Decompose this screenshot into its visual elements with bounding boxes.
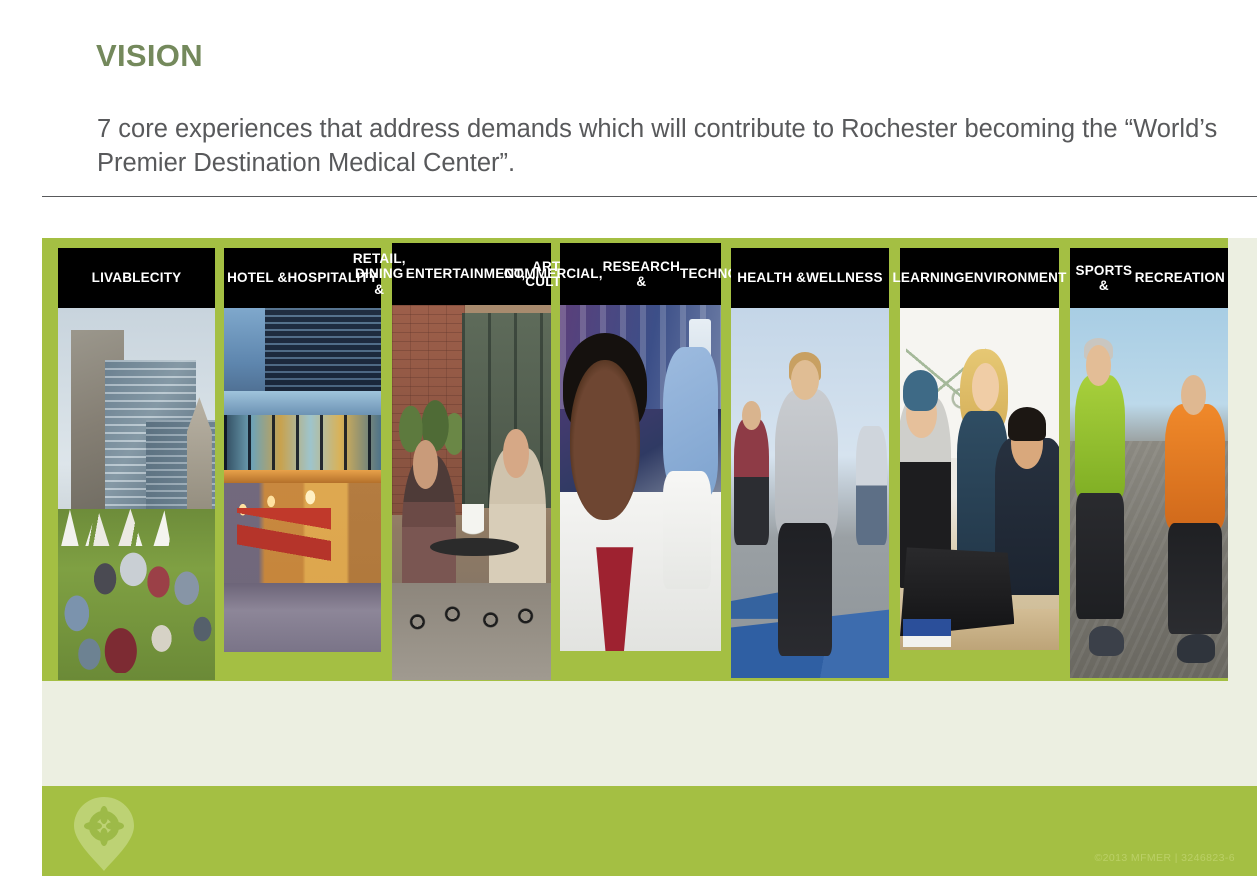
column-photo-learning-environment	[900, 308, 1059, 650]
column-health-wellness[interactable]: HEALTH & WELLNESS	[731, 248, 889, 678]
column-label-line-1: LEARNING	[892, 270, 964, 286]
column-header-livable-city: LIVABLE CITY	[58, 248, 215, 308]
column-label-line-2: CITY	[150, 270, 182, 286]
column-label-line-2: ENVIRONMENT	[965, 270, 1067, 286]
vision-columns-panel: LIVABLE CITY HOTEL & HOSPITALITY	[42, 238, 1257, 786]
column-sports-recreation[interactable]: SPORTS & RECREATION	[1070, 248, 1228, 678]
header-divider-rule	[42, 196, 1257, 197]
column-header-learning-environment: LEARNING ENVIRONMENT	[900, 248, 1059, 308]
column-hotel-hospitality[interactable]: HOTEL & HOSPITALITY	[224, 248, 381, 652]
slide-subtitle: 7 core experiences that address demands …	[97, 112, 1242, 180]
page-title: VISION	[96, 38, 203, 74]
column-label-line-1: SPORTS &	[1073, 263, 1135, 294]
mayo-clinic-location-pin-logo	[69, 795, 139, 873]
column-learning-environment[interactable]: LEARNING ENVIRONMENT	[900, 248, 1059, 650]
column-header-sports-recreation: SPORTS & RECREATION	[1070, 248, 1228, 308]
column-photo-livable-city	[58, 308, 215, 680]
slide-header: VISION 7 core experiences that address d…	[0, 0, 1257, 212]
copyright-notice: ©2013 MFMER | 3246823-6	[1095, 852, 1235, 864]
column-header-commercial-research: COMMERCIAL, RESEARCH & TECHNOLOGY	[560, 243, 721, 305]
column-label-line-1: HEALTH &	[737, 270, 806, 286]
column-label-line-2: RECREATION	[1135, 270, 1225, 286]
column-photo-retail-dining	[392, 305, 551, 680]
column-label-line-1: RETAIL, DINING &	[353, 251, 406, 298]
column-photo-commercial-research	[560, 305, 721, 651]
column-photo-sports-recreation	[1070, 308, 1228, 678]
column-commercial-research-technology[interactable]: COMMERCIAL, RESEARCH & TECHNOLOGY	[560, 243, 721, 651]
column-label-line-1: HOTEL &	[227, 270, 287, 286]
column-photo-health-wellness	[731, 308, 889, 678]
column-label-line-2: RESEARCH &	[603, 259, 680, 290]
column-photo-hotel-hospitality	[224, 308, 381, 652]
footer-bar: ©2013 MFMER | 3246823-6	[42, 786, 1257, 876]
experience-columns: LIVABLE CITY HOTEL & HOSPITALITY	[42, 238, 1257, 786]
column-livable-city[interactable]: LIVABLE CITY	[58, 248, 215, 680]
column-label-line-1: LIVABLE	[92, 270, 150, 286]
column-retail-dining-entertainment-arts-culture[interactable]: RETAIL, DINING & ENTERTAINMENT, ARTS & C…	[392, 243, 551, 680]
column-label-line-2: WELLNESS	[806, 270, 883, 286]
column-header-health-wellness: HEALTH & WELLNESS	[731, 248, 889, 308]
column-label-line-1: COMMERCIAL,	[504, 266, 603, 282]
